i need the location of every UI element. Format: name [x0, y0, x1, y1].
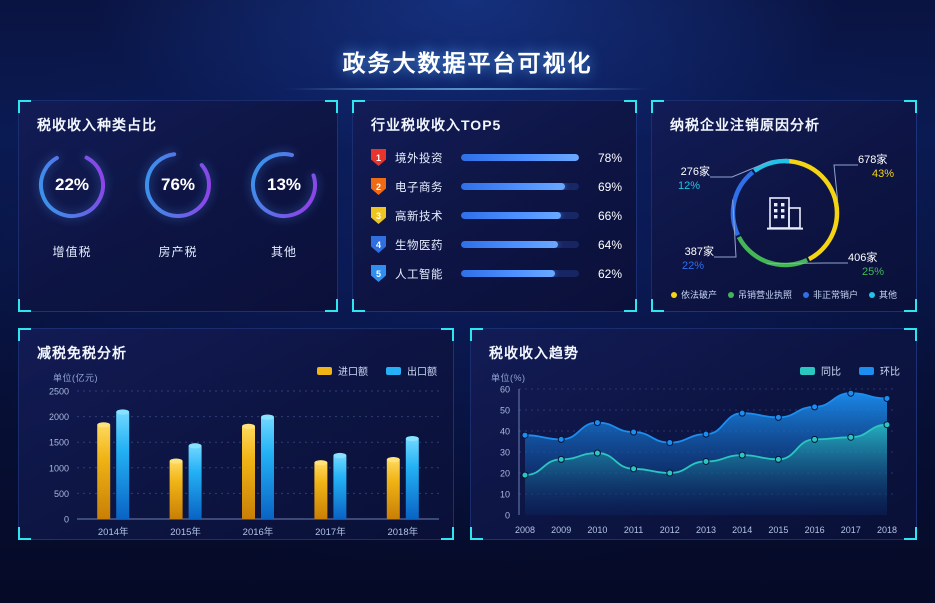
- donut-value: 76%: [142, 149, 214, 221]
- top5-bar-fill: [461, 183, 565, 190]
- top5-bar-fill: [461, 154, 579, 161]
- y-axis-tick-label: 1500: [49, 438, 69, 448]
- top5-bar-fill: [461, 270, 555, 277]
- tax-reduction-bar-chart: 050010001500200025002014年2015年2016年2017年…: [19, 329, 453, 539]
- data-point: [884, 395, 890, 401]
- x-axis-tick-label: 2018: [877, 525, 897, 535]
- cancellation-donut-chart: 678家43%406家25%387家22%276家12%: [652, 135, 916, 285]
- pie-legend: 依法破产吊销营业执照非正常销户其他: [652, 288, 916, 301]
- data-point: [594, 420, 600, 426]
- top5-bar-track: [461, 212, 579, 219]
- x-axis-tick-label: 2015年: [170, 526, 201, 538]
- donut-value: 22%: [36, 149, 108, 221]
- y-axis-tick-label: 500: [54, 489, 69, 499]
- x-axis-tick-label: 2012: [660, 525, 680, 535]
- top5-name: 境外投资: [395, 150, 457, 166]
- panel-title: 行业税收收入TOP5: [371, 115, 501, 135]
- top5-percent: 69%: [588, 180, 622, 194]
- panel-tax-type-share: 税收收入种类占比 22%增值税76%房产税13%其他: [18, 100, 338, 312]
- y-axis-tick-label: 40: [500, 427, 510, 437]
- pie-count-label: 387家: [685, 244, 714, 258]
- x-axis-tick-label: 2013: [696, 525, 716, 535]
- data-point: [884, 422, 890, 428]
- bar: [387, 460, 400, 519]
- bar: [333, 456, 346, 519]
- y-axis-tick-label: 30: [500, 448, 510, 458]
- pie-count-label: 406家: [848, 250, 877, 264]
- corner-marker-tr: [904, 100, 917, 113]
- top5-bar-track: [461, 183, 579, 190]
- corner-marker-tl: [352, 100, 365, 113]
- pie-count-label: 276家: [681, 164, 710, 178]
- top5-row[interactable]: 4生物医药64%: [371, 230, 622, 259]
- legend-dot-icon: [869, 292, 875, 298]
- corner-marker-tl: [18, 100, 31, 113]
- building-icon: [767, 198, 803, 229]
- y-axis-tick-label: 50: [500, 406, 510, 416]
- panel-cancellation-reason: 纳税企业注销原因分析 678家43%406家25%387家22%276家12% …: [651, 100, 917, 312]
- top5-row[interactable]: 3高新技术66%: [371, 201, 622, 230]
- donut-item: 13%其他: [241, 149, 327, 260]
- y-axis-tick-label: 2000: [49, 412, 69, 422]
- data-point: [775, 456, 781, 462]
- data-point: [594, 450, 600, 456]
- donut-item: 76%房产税: [135, 149, 221, 260]
- top5-bar-fill: [461, 212, 561, 219]
- y-axis-tick-label: 60: [500, 385, 510, 395]
- y-axis-tick-label: 2500: [49, 387, 69, 397]
- bar: [97, 425, 110, 519]
- y-axis-tick-label: 0: [64, 515, 69, 525]
- x-axis-tick-label: 2008: [515, 525, 535, 535]
- rank-badge-icon: 3: [371, 207, 386, 224]
- data-point: [631, 466, 637, 472]
- bar-cap: [189, 443, 202, 448]
- corner-marker-br: [325, 299, 338, 312]
- top5-percent: 62%: [588, 267, 622, 281]
- bar: [242, 426, 255, 519]
- pie-percent-label: 12%: [678, 180, 700, 192]
- corner-marker-tl: [651, 100, 664, 113]
- bar: [406, 439, 419, 519]
- bar-cap: [387, 457, 400, 462]
- donut-ring: 76%: [142, 149, 214, 221]
- top5-bar-track: [461, 154, 579, 161]
- data-point: [775, 414, 781, 420]
- donut-item: 22%增值税: [29, 149, 115, 260]
- data-point: [703, 458, 709, 464]
- legend-dot-icon: [671, 292, 677, 298]
- bar-cap: [242, 424, 255, 429]
- data-point: [558, 436, 564, 442]
- bar-cap: [406, 436, 419, 441]
- data-point: [812, 404, 818, 410]
- pie-slice: [716, 144, 854, 282]
- data-point: [812, 436, 818, 442]
- data-point: [558, 456, 564, 462]
- pie-leader-line: [714, 200, 736, 257]
- x-axis-tick-label: 2014年: [98, 526, 129, 538]
- data-point: [522, 432, 528, 438]
- y-axis-tick-label: 10: [500, 490, 510, 500]
- data-point: [667, 440, 673, 446]
- x-axis-tick-label: 2018年: [387, 526, 418, 538]
- top5-bar-track: [461, 241, 579, 248]
- pie-legend-item[interactable]: 吊销营业执照: [728, 288, 792, 301]
- y-axis-tick-label: 20: [500, 469, 510, 479]
- pie-percent-label: 25%: [862, 266, 884, 278]
- bar-cap: [261, 415, 274, 420]
- pie-legend-label: 其他: [879, 288, 897, 301]
- top5-list: 1境外投资78%2电子商务69%3高新技术66%4生物医药64%5人工智能62%: [371, 143, 622, 288]
- bar-cap: [116, 409, 129, 414]
- pie-percent-label: 22%: [682, 260, 704, 272]
- top5-name: 生物医药: [395, 237, 457, 253]
- pie-percent-label: 43%: [872, 168, 894, 180]
- corner-marker-tr: [325, 100, 338, 113]
- x-axis-tick-label: 2016年: [243, 526, 274, 538]
- pie-leader-line: [710, 161, 772, 177]
- pie-leader-line: [834, 165, 858, 201]
- donut-ring: 13%: [248, 149, 320, 221]
- pie-legend-item[interactable]: 其他: [869, 288, 897, 301]
- x-axis-tick-label: 2016: [805, 525, 825, 535]
- data-point: [522, 472, 528, 478]
- bar: [116, 412, 129, 519]
- corner-marker-bl: [352, 299, 365, 312]
- top5-row[interactable]: 5人工智能62%: [371, 259, 622, 288]
- data-point: [703, 431, 709, 437]
- bar: [261, 417, 274, 519]
- panel-tax-trend: 税收收入趋势 单位(%) 同比环比 0102030405060200820092…: [470, 328, 917, 540]
- pie-slice: [716, 144, 854, 282]
- bar: [189, 446, 202, 519]
- pie-legend-label: 依法破产: [681, 288, 717, 301]
- x-axis-tick-label: 2015: [768, 525, 788, 535]
- bar-cap: [314, 460, 327, 465]
- tax-trend-area-chart: 0102030405060200820092010201120122013201…: [471, 329, 916, 539]
- top5-percent: 66%: [588, 209, 622, 223]
- top5-row[interactable]: 2电子商务69%: [371, 172, 622, 201]
- donut-value: 13%: [248, 149, 320, 221]
- data-point: [848, 390, 854, 396]
- corner-marker-tr: [624, 100, 637, 113]
- donut-label: 增值税: [29, 243, 115, 260]
- top5-percent: 64%: [588, 238, 622, 252]
- rank-badge-icon: 2: [371, 178, 386, 195]
- panel-title: 税收收入种类占比: [37, 115, 157, 135]
- x-axis-tick-label: 2017: [841, 525, 861, 535]
- page-title: 政务大数据平台可视化: [0, 44, 935, 78]
- top5-name: 人工智能: [395, 266, 457, 282]
- data-point: [739, 452, 745, 458]
- x-axis-tick-label: 2017年: [315, 526, 346, 538]
- donut-label: 房产税: [135, 243, 221, 260]
- dashboard-background: 政务大数据平台可视化 税收收入种类占比 22%增值税76%房产税13%其他 行业…: [0, 0, 935, 603]
- top5-bar-fill: [461, 241, 558, 248]
- data-point: [667, 470, 673, 476]
- panel-industry-top5: 行业税收收入TOP5 1境外投资78%2电子商务69%3高新技术66%4生物医药…: [352, 100, 637, 312]
- top5-percent: 78%: [588, 151, 622, 165]
- rank-badge-icon: 5: [371, 265, 386, 282]
- donut-label: 其他: [241, 243, 327, 260]
- data-point: [848, 434, 854, 440]
- pie-legend-label: 非正常销户: [813, 288, 858, 301]
- corner-marker-bl: [18, 299, 31, 312]
- top5-row[interactable]: 1境外投资78%: [371, 143, 622, 172]
- top5-name: 电子商务: [395, 179, 457, 195]
- panel-tax-reduction: 减税免税分析 单位(亿元) 进口额出口额 0500100015002000250…: [18, 328, 454, 540]
- top5-name: 高新技术: [395, 208, 457, 224]
- y-axis-tick-label: 1000: [49, 463, 69, 473]
- x-axis-tick-label: 2010: [587, 525, 607, 535]
- x-axis-tick-label: 2014: [732, 525, 752, 535]
- data-point: [739, 410, 745, 416]
- bar-cap: [170, 459, 183, 464]
- y-axis-tick-label: 0: [505, 511, 510, 521]
- rank-badge-icon: 4: [371, 236, 386, 253]
- bar: [314, 463, 327, 519]
- x-axis-tick-label: 2011: [624, 525, 643, 535]
- pie-legend-item[interactable]: 依法破产: [671, 288, 717, 301]
- x-axis-tick-label: 2009: [551, 525, 571, 535]
- pie-legend-item[interactable]: 非正常销户: [803, 288, 858, 301]
- bar-cap: [97, 422, 110, 427]
- legend-dot-icon: [803, 292, 809, 298]
- corner-marker-br: [624, 299, 637, 312]
- donut-ring: 22%: [36, 149, 108, 221]
- bar: [170, 461, 183, 519]
- legend-dot-icon: [728, 292, 734, 298]
- data-point: [631, 429, 637, 435]
- pie-legend-label: 吊销营业执照: [738, 288, 792, 301]
- rank-badge-icon: 1: [371, 149, 386, 166]
- bar-cap: [333, 453, 346, 458]
- top5-bar-track: [461, 270, 579, 277]
- donut-group: 22%增值税76%房产税13%其他: [19, 149, 337, 260]
- panel-title: 纳税企业注销原因分析: [670, 115, 820, 135]
- pie-count-label: 678家: [858, 152, 887, 166]
